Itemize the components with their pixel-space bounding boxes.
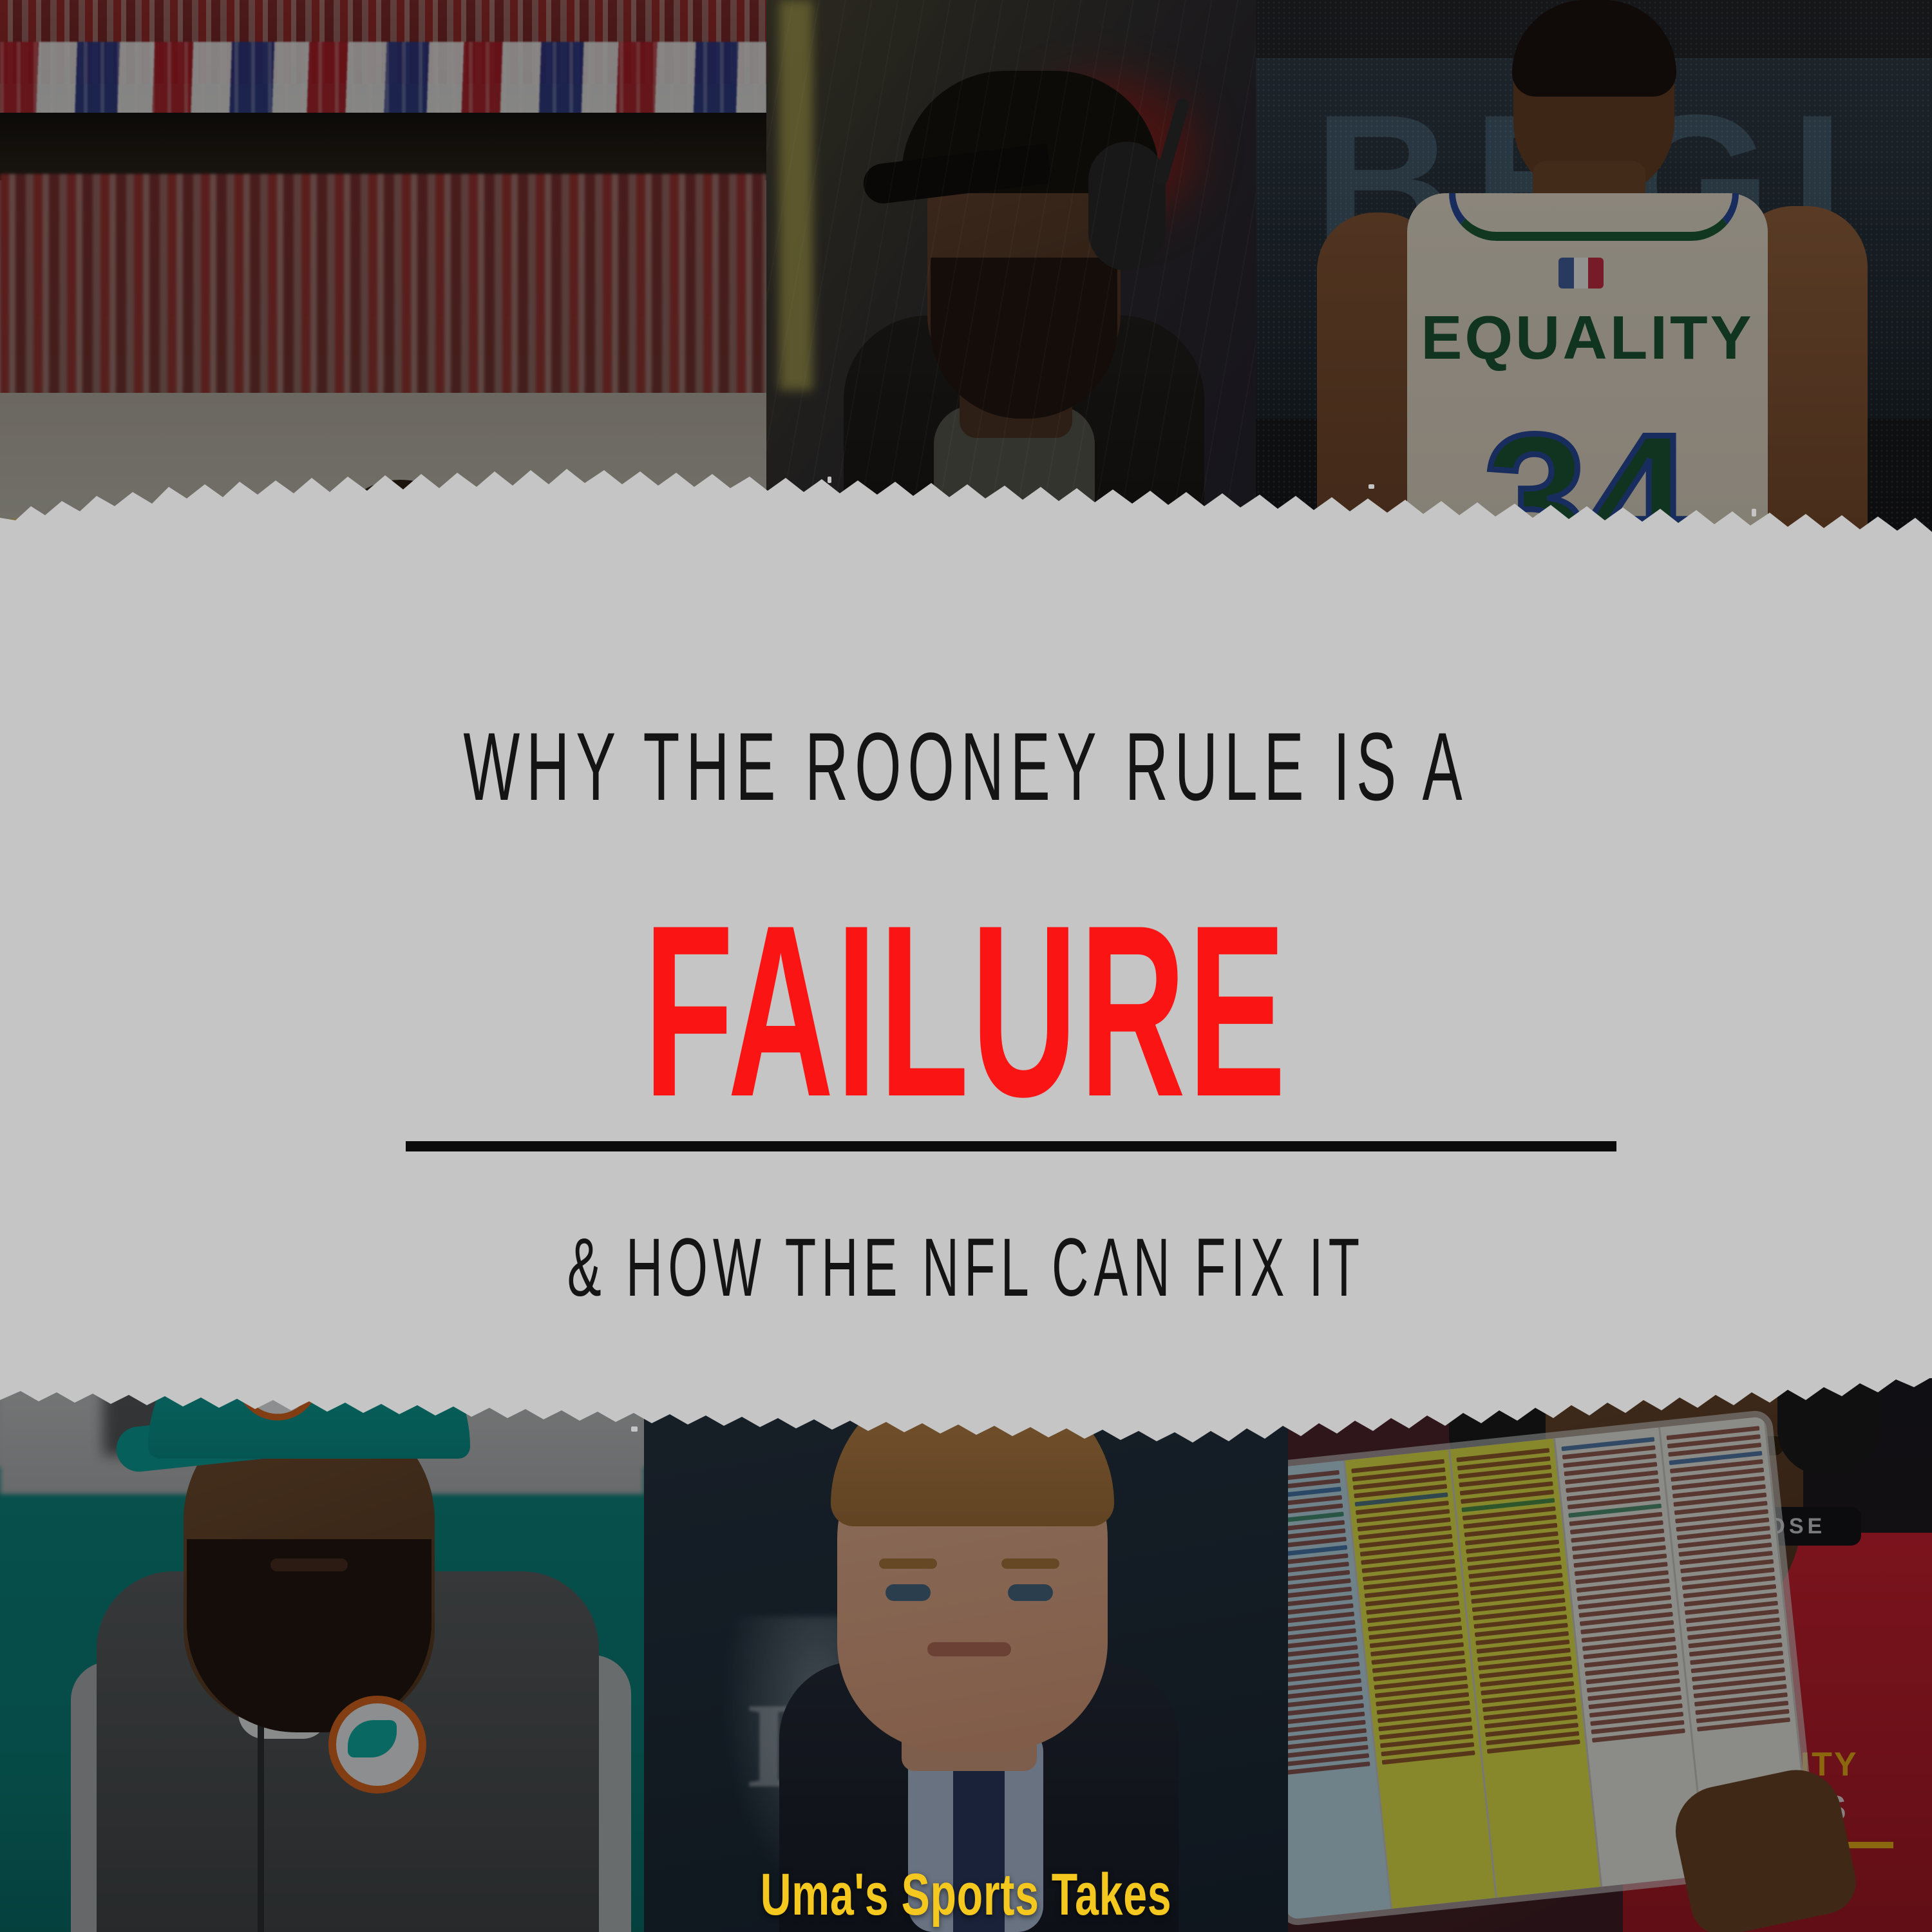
paper-fleck xyxy=(1855,721,1860,738)
paper-fleck xyxy=(631,1426,638,1432)
paper-fleck xyxy=(1153,1417,1158,1423)
torn-edge-bottom xyxy=(0,1370,1932,1454)
channel-watermark: Uma's Sports Takes xyxy=(270,1861,1662,1929)
paper-fleck xyxy=(828,477,831,483)
poster-canvas: 56 7 35 xyxy=(0,0,1932,1932)
headline-line-1: WHY THE ROONEY RULE IS A xyxy=(367,718,1565,815)
headline-line-2: & HOW THE NFL CAN FIX IT xyxy=(367,1227,1565,1309)
headline-divider-rule xyxy=(406,1141,1616,1151)
paper-fleck xyxy=(1368,484,1374,489)
paper-fleck xyxy=(35,763,41,776)
paper-fleck xyxy=(438,489,443,495)
torn-edge-top xyxy=(0,459,1932,542)
headline-emphasis-failure: FAILURE xyxy=(386,889,1546,1133)
paper-fleck xyxy=(1752,509,1756,516)
